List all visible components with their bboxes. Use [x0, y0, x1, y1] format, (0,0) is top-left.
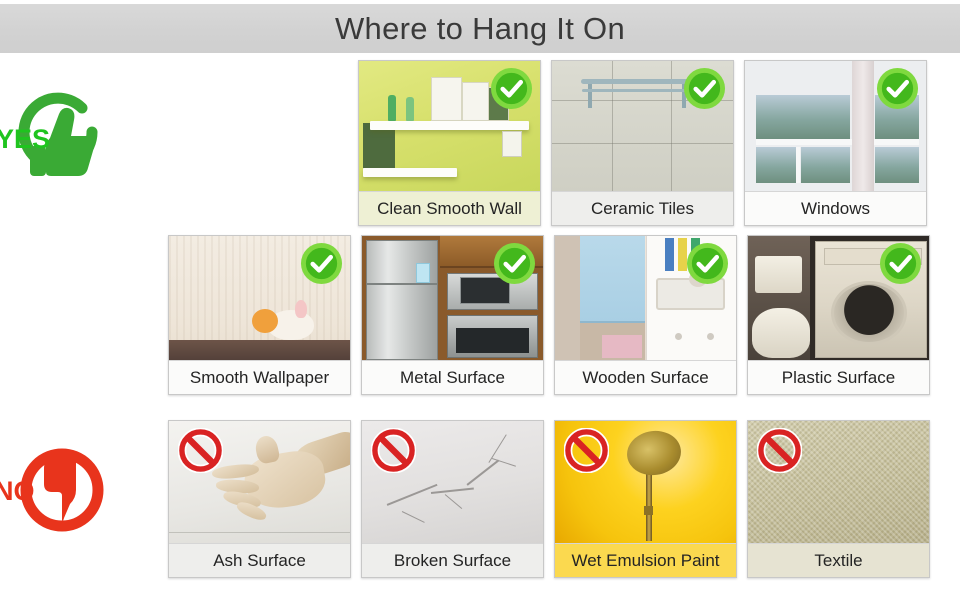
card-wet-emulsion-paint[interactable]: Wet Emulsion Paint	[554, 420, 737, 578]
card-photo	[555, 421, 736, 543]
red-prohibition-badge	[371, 428, 416, 473]
thumbs-up-icon: YES	[0, 86, 134, 196]
card-photo	[555, 236, 736, 360]
green-check-badge	[490, 67, 533, 110]
card-label: Broken Surface	[362, 543, 543, 577]
green-check-badge	[876, 67, 919, 110]
green-check-badge	[493, 242, 536, 285]
card-row-yes-1: Clean Smooth Wall Ceramic Tiles	[358, 60, 927, 226]
card-label: Wooden Surface	[555, 360, 736, 394]
card-ceramic-tiles[interactable]: Ceramic Tiles	[551, 60, 734, 226]
card-photo	[169, 421, 350, 543]
page-title: Where to Hang It On	[335, 13, 625, 44]
card-smooth-wallpaper[interactable]: Smooth Wallpaper	[168, 235, 351, 395]
card-photo	[169, 236, 350, 360]
card-photo	[748, 236, 929, 360]
card-label: Windows	[745, 191, 926, 225]
card-photo	[359, 61, 540, 191]
card-label: Plastic Surface	[748, 360, 929, 394]
card-photo	[748, 421, 929, 543]
card-photo	[552, 61, 733, 191]
verdict-yes-label: YES	[0, 124, 50, 154]
card-label: Textile	[748, 543, 929, 577]
card-label: Ash Surface	[169, 543, 350, 577]
card-windows[interactable]: Windows	[744, 60, 927, 226]
card-photo	[362, 236, 543, 360]
card-plastic-surface[interactable]: Plastic Surface	[747, 235, 930, 395]
red-prohibition-badge	[757, 428, 802, 473]
verdict-no-label: NO	[0, 476, 35, 506]
card-row-no: Ash Surface Broken Surface	[168, 420, 930, 578]
green-check-badge	[879, 242, 922, 285]
card-label: Metal Surface	[362, 360, 543, 394]
green-check-badge	[300, 242, 343, 285]
red-prohibition-badge	[178, 428, 223, 473]
card-photo	[745, 61, 926, 191]
header-band: Where to Hang It On	[0, 4, 960, 53]
card-clean-smooth-wall[interactable]: Clean Smooth Wall	[358, 60, 541, 226]
card-label: Wet Emulsion Paint	[555, 543, 736, 577]
verdict-yes: YES	[0, 86, 134, 196]
card-label: Clean Smooth Wall	[359, 191, 540, 225]
card-wooden-surface[interactable]: Wooden Surface	[554, 235, 737, 395]
verdict-no: NO	[0, 434, 130, 546]
card-row-yes-2: Smooth Wallpaper Metal Surface	[168, 235, 930, 395]
card-ash-surface[interactable]: Ash Surface	[168, 420, 351, 578]
thumbs-down-icon: NO	[0, 434, 130, 546]
card-textile[interactable]: Textile	[747, 420, 930, 578]
red-prohibition-badge	[564, 428, 609, 473]
card-photo	[362, 421, 543, 543]
card-label: Ceramic Tiles	[552, 191, 733, 225]
green-check-badge	[686, 242, 729, 285]
green-check-badge	[683, 67, 726, 110]
card-label: Smooth Wallpaper	[169, 360, 350, 394]
card-broken-surface[interactable]: Broken Surface	[361, 420, 544, 578]
card-metal-surface[interactable]: Metal Surface	[361, 235, 544, 395]
